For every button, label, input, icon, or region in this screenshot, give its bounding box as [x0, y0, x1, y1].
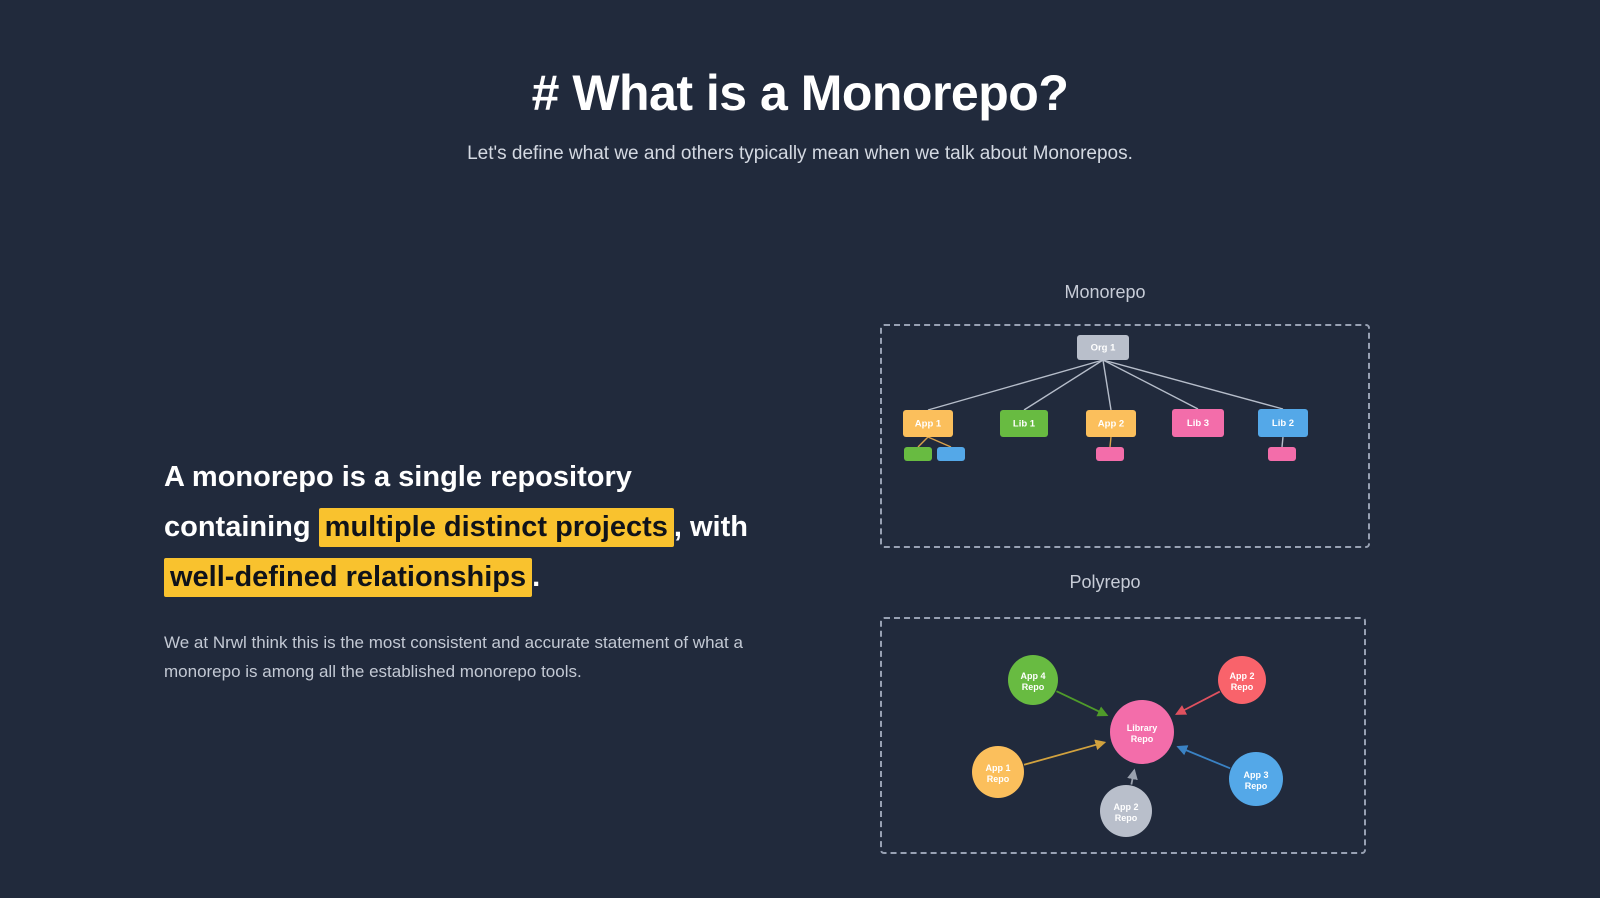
polyrepo-node[interactable]: App 3Repo — [1229, 752, 1283, 806]
monorepo-leaf-edge — [1282, 437, 1283, 447]
monorepo-node-label: Lib 3 — [1187, 418, 1209, 429]
monorepo-leaf-node[interactable] — [904, 447, 932, 461]
monorepo-leaf-edge — [918, 437, 928, 447]
monorepo-node-label: Lib 2 — [1272, 418, 1294, 429]
polyrepo-dependency-arrow — [1024, 742, 1104, 764]
polyrepo-node-label-line2: Repo — [1245, 781, 1268, 791]
monorepo-node[interactable]: Lib 2 — [1258, 409, 1308, 437]
monorepo-leaf-node[interactable] — [937, 447, 965, 461]
polyrepo-dependency-arrow — [1131, 770, 1134, 784]
statement-part-2: , with — [674, 511, 748, 543]
page-header: # What is a Monorepo? Let's define what … — [0, 0, 1600, 165]
page-title: # What is a Monorepo? — [0, 66, 1600, 121]
monorepo-leaf-edge — [928, 437, 951, 447]
monorepo-edge — [928, 360, 1103, 410]
monorepo-node[interactable]: Lib 3 — [1172, 409, 1224, 437]
polyrepo-node[interactable]: App 2Repo — [1100, 785, 1152, 837]
polyrepo-node[interactable]: LibraryRepo — [1110, 700, 1174, 764]
statement-part-3: . — [532, 561, 540, 593]
statement-highlight-1: multiple distinct projects — [319, 508, 674, 547]
monorepo-edge — [1103, 360, 1283, 409]
monorepo-node-label: App 2 — [1098, 419, 1124, 430]
polyrepo-dependency-arrow — [1056, 691, 1106, 715]
polyrepo-node-label-line2: Repo — [1022, 682, 1045, 692]
monorepo-node[interactable]: App 2 — [1086, 410, 1136, 437]
polyrepo-node[interactable]: App 2Repo — [1218, 656, 1266, 704]
monorepo-leaf-node[interactable] — [1096, 447, 1124, 461]
polyrepo-node-label-line1: App 1 — [985, 763, 1010, 773]
statement-column: A monorepo is a single repository contai… — [164, 452, 784, 686]
monorepo-leaf-edge — [1110, 437, 1111, 447]
polyrepo-node[interactable]: App 1Repo — [972, 746, 1024, 798]
monorepo-leaf-node[interactable] — [1268, 447, 1296, 461]
statement-heading: A monorepo is a single repository contai… — [164, 452, 784, 602]
polyrepo-node-label-line2: Repo — [1131, 734, 1154, 744]
monorepo-graph: Org 1App 1Lib 1App 2Lib 3Lib 2 — [860, 278, 1380, 553]
monorepo-node-label: Lib 1 — [1013, 419, 1036, 430]
polyrepo-node-label-line1: App 2 — [1229, 671, 1254, 681]
monorepo-edge — [1103, 360, 1198, 409]
monorepo-diagram: Monorepo Org 1App 1Lib 1App 2Lib 3Lib 2 — [860, 278, 1380, 553]
statement-highlight-2: well-defined relationships — [164, 558, 532, 597]
polyrepo-node-label-line1: Library — [1127, 723, 1158, 733]
monorepo-edge — [1024, 360, 1103, 410]
page-subtitle: Let's define what we and others typicall… — [0, 143, 1600, 165]
monorepo-node[interactable]: Lib 1 — [1000, 410, 1048, 437]
monorepo-node[interactable]: Org 1 — [1077, 335, 1129, 360]
polyrepo-node-label-line2: Repo — [1231, 682, 1254, 692]
monorepo-node-label: Org 1 — [1091, 343, 1117, 354]
polyrepo-node-label-line2: Repo — [1115, 813, 1138, 823]
monorepo-edge — [1103, 360, 1111, 410]
monorepo-node-label: App 1 — [915, 419, 942, 430]
polyrepo-node[interactable]: App 4Repo — [1008, 655, 1058, 705]
monorepo-node[interactable]: App 1 — [903, 410, 953, 437]
polyrepo-node-label-line2: Repo — [987, 774, 1010, 784]
polyrepo-dependency-arrow — [1178, 747, 1230, 768]
polyrepo-dependency-arrow — [1177, 692, 1220, 714]
polyrepo-diagram: Polyrepo App 4RepoApp 2RepoLibraryRepoAp… — [860, 568, 1380, 858]
polyrepo-node-label-line1: App 4 — [1020, 671, 1045, 681]
polyrepo-node-label-line1: App 2 — [1113, 802, 1138, 812]
statement-note: We at Nrwl think this is the most consis… — [164, 628, 779, 686]
polyrepo-graph: App 4RepoApp 2RepoLibraryRepoApp 1RepoAp… — [860, 568, 1380, 858]
polyrepo-node-label-line1: App 3 — [1243, 770, 1268, 780]
